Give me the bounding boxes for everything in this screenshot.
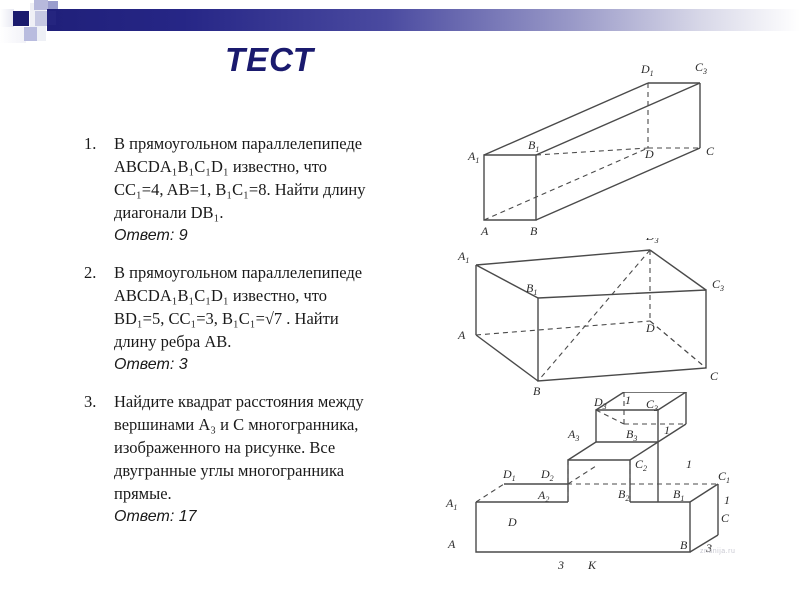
- problem-answer-2: Ответ: 3: [114, 354, 424, 376]
- figure-2-label-C1: C3: [712, 277, 724, 293]
- figure-3-dim-right-1: 1: [724, 493, 730, 507]
- figure-3-label-D3: D3: [593, 395, 607, 411]
- problem-item-1: 1. В прямоугольном параллелепипеде ABCDA…: [84, 132, 424, 247]
- figure-3-dim-base-3: 3: [557, 558, 564, 572]
- figure-3-label-B1: B1: [673, 487, 684, 503]
- problem-number-1: 1.: [84, 132, 114, 155]
- figure-2-label-B1: B1: [526, 281, 537, 297]
- problem-text-line: диагонали DB₁.: [114, 201, 424, 224]
- figure-3-label-D1: D1: [502, 467, 516, 483]
- problem-number-3: 3.: [84, 390, 114, 413]
- problem-text-line: CC₁=4, AB=1, B₁C₁=8. Найти длину: [114, 178, 424, 201]
- figure-3-label-K: K: [587, 558, 597, 572]
- figure-2-label-C: C: [710, 369, 719, 383]
- problem-text-line: вершинами A₃ и C многогранника,: [114, 413, 424, 436]
- problem-text-line: ABCDA₁B₁C₁D₁ известно, что: [114, 284, 424, 307]
- figure-3-dim-top-1: 1: [625, 393, 631, 407]
- figure-1-label-A: A: [480, 224, 489, 238]
- figure-3-label-D: D: [507, 515, 517, 529]
- figure-2-label-D1: D3: [645, 238, 659, 245]
- figure-2-label-A: A: [457, 328, 466, 342]
- figure-3-label-A3: A3: [567, 427, 579, 443]
- figure-3-label-B: B: [680, 538, 688, 552]
- figure-2-parallelepiped-diagonals: A1 A B1 B D3 D C3 C: [418, 238, 800, 398]
- figure-3-label-D2: D2: [540, 467, 554, 483]
- figure-1-label-B: B: [530, 224, 538, 238]
- figure-3-label-A2: A2: [537, 488, 549, 504]
- header-square-dark-1: [13, 11, 29, 26]
- figure-1-label-D: D: [644, 147, 654, 161]
- problem-body-1: В прямоугольном параллелепипеде ABCDA₁B₁…: [114, 132, 424, 247]
- problem-body-2: В прямоугольном параллелепипеде ABCDA₁B₁…: [114, 261, 424, 376]
- figure-3-label-A1: A1: [445, 496, 457, 512]
- figure-3-dim-mid-1: 1: [686, 457, 692, 471]
- figure-1-label-B1: B1: [528, 138, 539, 154]
- problem-answer-1: Ответ: 9: [114, 225, 424, 247]
- problem-text-line: прямые.: [114, 482, 424, 505]
- figure-3-label-B2: B2: [618, 487, 629, 503]
- problem-text-line: В прямоугольном параллелепипеде: [114, 261, 424, 284]
- problem-text-line: В прямоугольном параллелепипеде: [114, 132, 424, 155]
- figure-1-label-A1: A1: [467, 149, 479, 165]
- figure-3-label-C: C: [721, 511, 730, 525]
- figure-1-label-C1: C3: [695, 60, 707, 76]
- header-square-dark-2: [47, 11, 56, 25]
- problem-text-line: Найдите квадрат расстояния между: [114, 390, 424, 413]
- problem-item-2: 2. В прямоугольном параллелепипеде ABCDA…: [84, 261, 424, 376]
- figure-2-label-D: D: [645, 321, 655, 335]
- header-decoration: [0, 0, 800, 44]
- problem-item-3: 3. Найдите квадрат расстояния между верш…: [84, 390, 424, 528]
- figure-1-label-D1: D1: [640, 62, 654, 78]
- figure-2-label-A1: A1: [457, 249, 469, 265]
- problem-answer-3: Ответ: 17: [114, 506, 424, 528]
- header-gradient-bar: [47, 9, 800, 31]
- problem-list: 1. В прямоугольном параллелепипеде ABCDA…: [84, 132, 424, 542]
- problem-number-2: 2.: [84, 261, 114, 284]
- figure-3-label-C3: C3: [646, 397, 658, 413]
- problem-body-3: Найдите квадрат расстояния между вершина…: [114, 390, 424, 528]
- header-fade-block-bottom: [0, 27, 26, 43]
- page-title: ТЕСТ: [225, 41, 314, 79]
- header-square-mid-1: [34, 0, 48, 10]
- problem-text-line: BD₁=5, CC₁=3, B₁C₁=√7 . Найти: [114, 307, 424, 330]
- watermark: znanija.ru: [700, 548, 735, 555]
- figure-3-dim-riser-1: 1: [664, 423, 670, 437]
- figure-column: A1 B1 A B D C D1 C3 A1 A B1 B D3 D C3 C: [418, 40, 800, 600]
- figure-3-label-C2: C2: [635, 457, 647, 473]
- problem-text-line: длину ребра AB.: [114, 330, 424, 353]
- header-square-mid-3: [24, 27, 37, 41]
- figure-3-label-A: A: [447, 537, 456, 551]
- figure-3-label-C1: C1: [718, 469, 730, 485]
- figure-3-stepped-polyhedron: A1 A D D1 A2 D2 A3 D3 B3 C3 B2 C2 B1 B C…: [418, 392, 800, 592]
- problem-text-line: ABCDA₁B₁C₁D₁ известно, что: [114, 155, 424, 178]
- figure-3-label-B3: B3: [626, 427, 637, 443]
- problem-text-line: изображенного на рисунке. Все: [114, 436, 424, 459]
- figure-1-label-C: C: [706, 144, 715, 158]
- problem-text-line: двугранные углы многогранника: [114, 459, 424, 482]
- figure-1-long-parallelepiped: A1 B1 A B D C D1 C3: [418, 45, 800, 240]
